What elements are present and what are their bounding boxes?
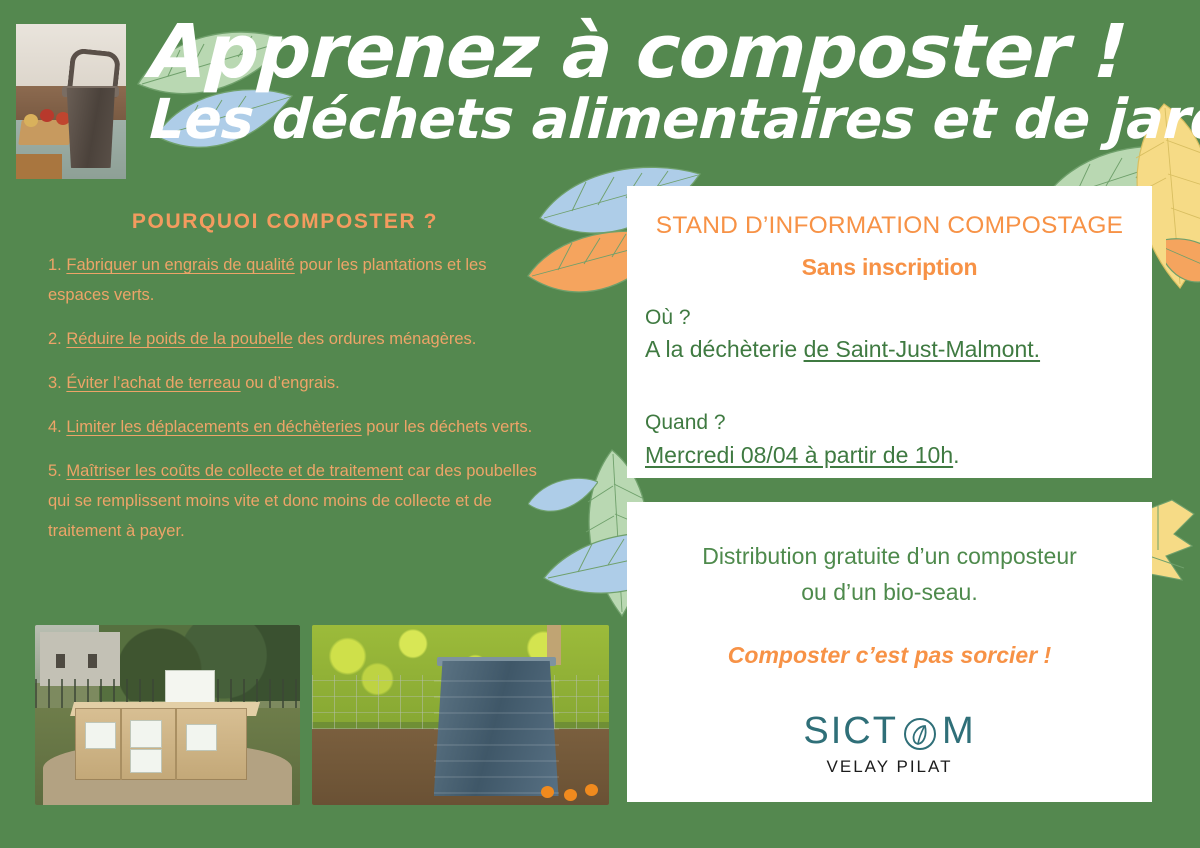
logo-word-part2: M: [942, 710, 976, 753]
distribution-text: Distribution gratuite d’un composteur ou…: [647, 538, 1132, 610]
reason-number: 2.: [48, 330, 62, 348]
where-answer: A la déchèterie de Saint-Just-Malmont.: [645, 336, 1040, 363]
where-answer-location: de Saint-Just-Malmont.: [804, 336, 1040, 362]
when-answer-date: Mercredi 08/04 à partir de 10h: [645, 442, 953, 468]
slogan-text: Composter c’est pas sorcier !: [627, 642, 1152, 669]
reason-rest: ou d’engrais.: [241, 374, 340, 392]
distribution-line-2: ou d’un bio-seau.: [647, 574, 1132, 610]
reason-item: 5. Maîtriser les coûts de collecte et de…: [48, 456, 548, 546]
reason-rest: des ordures ménagères.: [293, 330, 476, 348]
reason-item: 2. Réduire le poids de la poubelle des o…: [48, 324, 548, 354]
distribution-line-1: Distribution gratuite d’un composteur: [647, 538, 1132, 574]
wooden-shared-composter-photo: [35, 625, 300, 805]
reason-item: 1. Fabriquer un engrais de qualité pour …: [48, 250, 548, 310]
when-question-label: Quand ?: [645, 411, 726, 435]
reason-rest: pour les déchets verts.: [362, 418, 533, 436]
why-compost-heading: POURQUOI COMPOSTER ?: [35, 210, 535, 234]
leaf-in-circle-icon: [902, 716, 938, 752]
reason-number: 1.: [48, 256, 62, 274]
where-answer-plain: A la déchèterie: [645, 336, 804, 362]
reason-item: 3. Éviter l’achat de terreau ou d’engrai…: [48, 368, 548, 398]
reason-number: 4.: [48, 418, 62, 436]
title-line-1: Apprenez à composter !: [148, 16, 1092, 89]
sictom-logo: SICT M VELAY PILAT: [627, 710, 1152, 777]
bio-seau-photo: [16, 24, 126, 179]
where-question-label: Où ?: [645, 306, 691, 330]
when-answer-period: .: [953, 442, 959, 468]
poster-title: Apprenez à composter ! Les déchets alime…: [150, 16, 1090, 148]
reason-number: 3.: [48, 374, 62, 392]
title-line-2: Les déchets alimentaires et de jardin: [148, 91, 1091, 149]
reason-highlight: Réduire le poids de la poubelle: [66, 330, 293, 348]
reason-highlight: Fabriquer un engrais de qualité: [66, 256, 294, 274]
stand-title: STAND D’INFORMATION COMPOSTAGE: [627, 212, 1152, 240]
distribution-offer-card: Distribution gratuite d’un composteur ou…: [627, 502, 1152, 802]
poster-canvas: Apprenez à composter ! Les déchets alime…: [0, 0, 1200, 848]
no-registration-label: Sans inscription: [627, 254, 1152, 281]
reason-highlight: Éviter l’achat de terreau: [66, 374, 240, 392]
reasons-list: 1. Fabriquer un engrais de qualité pour …: [48, 250, 548, 560]
reason-highlight: Limiter les déplacements en déchèteries: [66, 418, 361, 436]
reason-item: 4. Limiter les déplacements en déchèteri…: [48, 412, 548, 442]
leaf-orange-edge-right: [1166, 232, 1200, 302]
stand-info-card: STAND D’INFORMATION COMPOSTAGE Sans insc…: [627, 186, 1152, 478]
reason-highlight: Maîtriser les coûts de collecte et de tr…: [66, 462, 403, 480]
reason-number: 5.: [48, 462, 62, 480]
when-answer: Mercredi 08/04 à partir de 10h.: [645, 442, 960, 469]
plastic-garden-composter-photo: [312, 625, 609, 805]
logo-word-part1: SICT: [803, 710, 898, 753]
logo-subtitle: VELAY PILAT: [627, 757, 1152, 777]
